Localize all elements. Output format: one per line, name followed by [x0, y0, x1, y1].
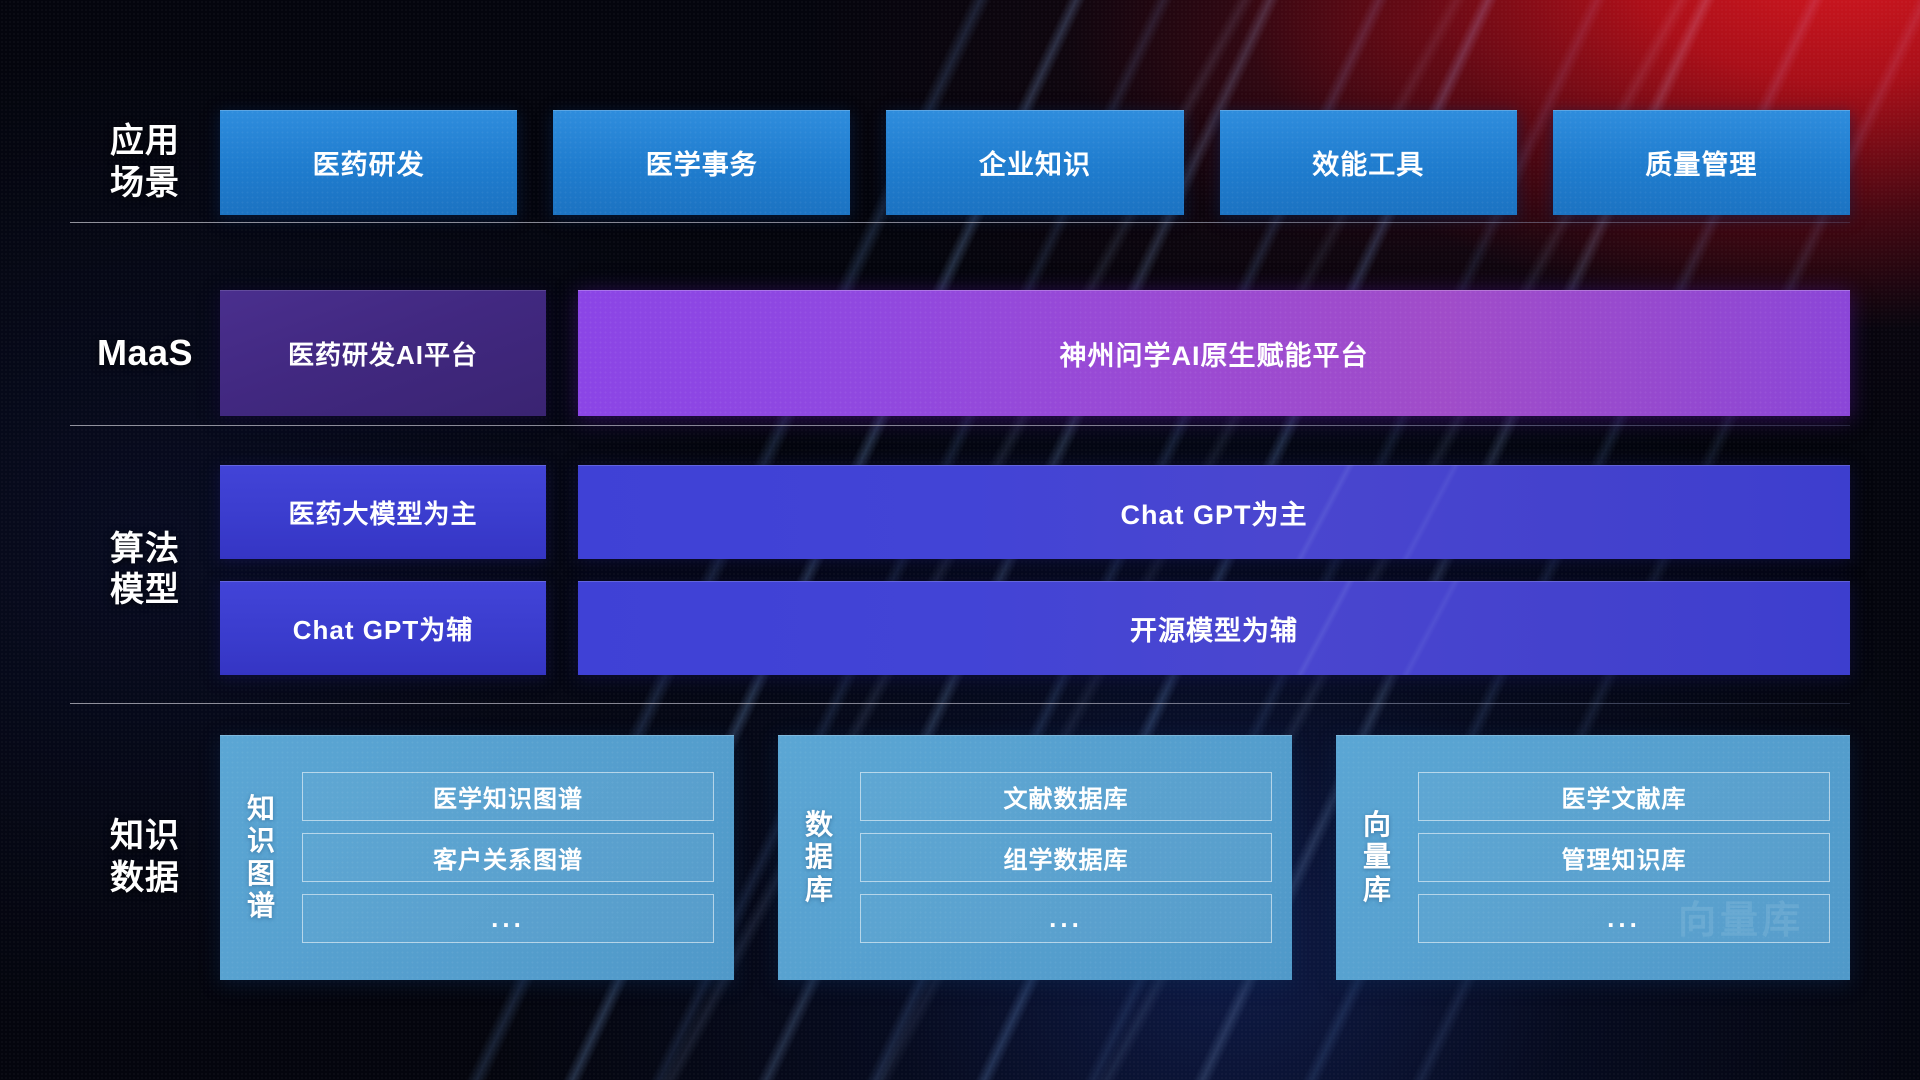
knowledge-chip-customer-relation-graph[interactable]: 客户关系图谱 [302, 833, 714, 882]
maas-card-drug-rd-ai-platform[interactable]: 医药研发AI平台 [220, 290, 546, 416]
row-algorithm-models: 算法 模型 医药大模型为主 Chat GPT为主 Chat GPT为辅 开源模型… [70, 465, 1850, 675]
knowledge-panel-title-knowledge-graph: 知识图谱 [234, 793, 288, 923]
knowledge-panel-list: 知识图谱 医学知识图谱 客户关系图谱 ... 数据库 文献数据库 组学数据库 .… [220, 735, 1850, 980]
app-card-efficiency-tools[interactable]: 效能工具 [1220, 110, 1517, 215]
knowledge-chip-literature-database[interactable]: 文献数据库 [860, 772, 1272, 821]
knowledge-chip-list-knowledge-graph: 医学知识图谱 客户关系图谱 ... [302, 772, 714, 943]
knowledge-panel-title-vector-store: 向量库 [1350, 809, 1404, 906]
algo-card-chatgpt-primary[interactable]: Chat GPT为主 [578, 465, 1850, 559]
knowledge-chip-more-knowledge-graph[interactable]: ... [302, 894, 714, 943]
app-card-medical-affairs[interactable]: 医学事务 [553, 110, 850, 215]
knowledge-chip-omics-database[interactable]: 组学数据库 [860, 833, 1272, 882]
divider-algorithms-knowledge [70, 703, 1850, 704]
app-card-enterprise-knowledge[interactable]: 企业知识 [886, 110, 1183, 215]
divider-maas-algorithms [70, 425, 1850, 426]
app-card-quality-management[interactable]: 质量管理 [1553, 110, 1850, 215]
algo-card-pharma-llm-primary[interactable]: 医药大模型为主 [220, 465, 546, 559]
app-card-drug-rd[interactable]: 医药研发 [220, 110, 517, 215]
row-application-scenarios: 应用 场景 医药研发 医学事务 企业知识 效能工具 质量管理 [70, 110, 1850, 215]
algorithm-card-stack: 医药大模型为主 Chat GPT为主 Chat GPT为辅 开源模型为辅 [220, 465, 1850, 675]
maas-card-shenzhou-wenxue-platform[interactable]: 神州问学AI原生赋能平台 [578, 290, 1850, 416]
knowledge-panel-knowledge-graph[interactable]: 知识图谱 医学知识图谱 客户关系图谱 ... [220, 735, 734, 980]
knowledge-chip-management-knowledge-store[interactable]: 管理知识库 [1418, 833, 1830, 882]
architecture-diagram: 应用 场景 医药研发 医学事务 企业知识 效能工具 质量管理 MaaS 医药研发… [0, 0, 1920, 1080]
knowledge-panel-vector-store[interactable]: 向量库 医学文献库 管理知识库 ... 向量库 [1336, 735, 1850, 980]
row-label-application-scenarios: 应用 场景 [70, 121, 220, 204]
algo-card-chatgpt-secondary[interactable]: Chat GPT为辅 [220, 581, 546, 675]
knowledge-chip-more-vector-store[interactable]: ... [1418, 894, 1830, 943]
algorithm-row-secondary: Chat GPT为辅 开源模型为辅 [220, 581, 1850, 675]
knowledge-chip-medical-knowledge-graph[interactable]: 医学知识图谱 [302, 772, 714, 821]
knowledge-panel-database[interactable]: 数据库 文献数据库 组学数据库 ... [778, 735, 1292, 980]
knowledge-chip-more-database[interactable]: ... [860, 894, 1272, 943]
algorithm-row-primary: 医药大模型为主 Chat GPT为主 [220, 465, 1850, 559]
divider-applications-maas [70, 222, 1850, 223]
maas-card-list: 医药研发AI平台 神州问学AI原生赋能平台 [220, 290, 1850, 416]
row-knowledge-data: 知识 数据 知识图谱 医学知识图谱 客户关系图谱 ... 数据库 文献数据库 [70, 735, 1850, 980]
row-label-maas: MaaS [70, 331, 220, 375]
row-label-algorithm-models: 算法 模型 [70, 529, 220, 612]
slide-canvas: 应用 场景 医药研发 医学事务 企业知识 效能工具 质量管理 MaaS 医药研发… [0, 0, 1920, 1080]
knowledge-chip-list-vector-store: 医学文献库 管理知识库 ... [1418, 772, 1830, 943]
knowledge-panel-title-database: 数据库 [792, 809, 846, 906]
algo-card-opensource-secondary[interactable]: 开源模型为辅 [578, 581, 1850, 675]
row-label-knowledge-data: 知识 数据 [70, 816, 220, 899]
application-card-list: 医药研发 医学事务 企业知识 效能工具 质量管理 [220, 110, 1850, 215]
knowledge-chip-medical-literature-store[interactable]: 医学文献库 [1418, 772, 1830, 821]
row-maas: MaaS 医药研发AI平台 神州问学AI原生赋能平台 [70, 290, 1850, 416]
knowledge-chip-list-database: 文献数据库 组学数据库 ... [860, 772, 1272, 943]
